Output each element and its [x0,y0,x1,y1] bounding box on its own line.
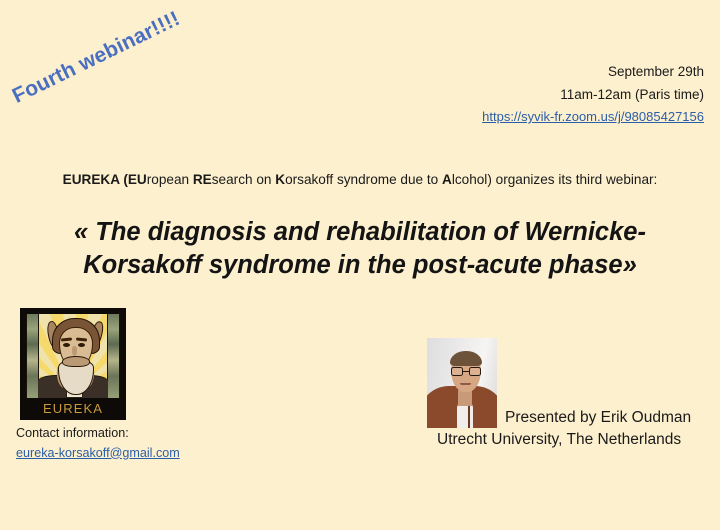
eureka-logo-frame: EUREKA [20,308,126,420]
org-seg-a: A [442,172,452,187]
event-date: September 29th [482,60,704,83]
stained-glass-panel-right [107,314,120,398]
webinar-poster: Fourth webinar!!!! September 29th 11am-1… [0,0,720,530]
org-seg-re: RE [193,172,212,187]
org-seg-orsakoff: orsakoff syndrome due to [285,172,442,187]
event-meta: September 29th 11am-12am (Paris time) ht… [482,60,704,129]
organizer-line: EUREKA (EUropean REsearch on Korsakoff s… [0,172,720,187]
presenter-name: Presented by Erik Oudman [505,409,691,427]
contact-label: Contact information: [16,424,180,444]
portrait-eye-left [63,343,70,347]
org-seg-search: search on [212,172,275,187]
org-seg-k: K [275,172,285,187]
presenter-affiliation: Utrecht University, The Netherlands [437,431,681,449]
korsakoff-portrait-icon [26,314,120,398]
org-seg-ropean: ropean [147,172,193,187]
portrait-nose [72,346,77,356]
glasses-lens-right [469,367,481,376]
org-seg-lcohol: lcohol) organizes its third webinar: [452,172,658,187]
presenter-hair [450,351,482,366]
presenter-neck [458,390,472,406]
eureka-logo-caption: EUREKA [20,398,126,420]
webinar-title: « The diagnosis and rehabilitation of We… [60,216,660,281]
webinar-title-line-2: Korsakoff syndrome in the post-acute pha… [60,249,660,282]
fourth-webinar-banner: Fourth webinar!!!! [9,7,184,109]
org-seg-eureka: EUREKA (EU [63,172,147,187]
webinar-title-line-1: « The diagnosis and rehabilitation of We… [60,216,660,249]
contact-email-link[interactable]: eureka-korsakoff@gmail.com [16,446,180,460]
glasses-icon [450,367,482,376]
eureka-logo-block: EUREKA [20,308,126,420]
contact-block: Contact information: eureka-korsakoff@gm… [16,424,180,463]
event-time: 11am-12am (Paris time) [482,83,704,106]
portrait-eye-right [78,343,85,347]
zoom-meeting-link[interactable]: https://syvik-fr.zoom.us/j/98085427156 [482,106,704,128]
portrait-moustache [62,356,90,367]
glasses-lens-left [451,367,463,376]
presenter-photo [427,338,497,428]
